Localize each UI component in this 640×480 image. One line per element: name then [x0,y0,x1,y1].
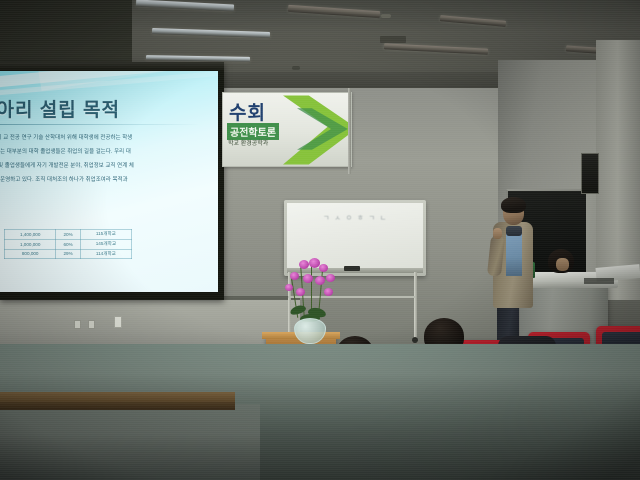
table-cell: 1,000,000 [5,239,56,249]
presenter-hair [501,197,526,213]
orchid-bloom [315,276,325,285]
orchid-bloom [326,274,335,282]
orchid-bloom [296,288,305,296]
projected-slide: ㅣ아리 설립 목적 …함께 교 전공 연구 기술 산학대처 위해 대학생에 전공… [0,71,218,292]
wall-lower-band [0,300,300,348]
slide-body-line-2: … 교는 대부분의 대학 졸업생들은 취업의 길을 걸는다. 우리 대 [0,147,131,155]
slide-body-line-4: …로 운영하고 있다. 조직 대처조의 하나가 취업조여라 목적과 [0,175,128,183]
table-cell: 114개학교 [80,249,131,259]
whiteboard-writing: ㄱ ㅅ ㅇ ㅎ ㄱ ㄴ [323,213,388,223]
wall-switch-plate [114,316,122,328]
floor-foreground [0,404,260,480]
table-cell: 145개학교 [80,239,131,249]
orchid-bloom [303,274,313,283]
ceiling-vent [380,36,406,43]
banner-title: 수회 [229,98,266,125]
seated-person-face [556,258,569,271]
wall-outlet-1 [74,320,81,329]
slide-title-rule [0,124,200,125]
table-cell: 29% [56,249,80,259]
table-cell: 800,000 [5,249,56,259]
table-cell: 20% [56,230,80,240]
orchid-bloom [319,264,328,272]
projection-screen-roller [0,62,224,71]
stage-step-riser [0,402,235,410]
table-row: 800,000 29% 114개학교 [5,249,132,259]
ceiling-smoke-detector [381,14,391,18]
orchid-plant [284,258,338,324]
slide-body-line-3: …행 및 졸업생들에게 자기 개발전문 분야, 취업정보 교직 연계 체 [0,161,134,169]
presenter-hand-with-mic [493,228,502,239]
podium-edge-shadow [584,278,614,284]
orchid-bloom [324,288,333,296]
wall-banner: 수회 공전학토론 학교 환경공학과 [222,92,352,167]
ceiling-shadow-left [0,0,132,62]
orchid-bloom [299,260,309,269]
banner-affiliation: 학교 환경공학과 [228,138,268,147]
ceiling-sprinkler [292,66,300,70]
whiteboard-eraser [344,266,360,271]
wall-speaker-icon [581,153,599,194]
table-row: 1,000,000 60% 145개학교 [5,239,132,249]
slide-title: ㅣ아리 설립 목적 [0,95,178,122]
photo-scene: ㅣ아리 설립 목적 …함께 교 전공 연구 기술 산학대처 위해 대학생에 전공… [0,0,640,480]
whiteboard-leg-right [414,272,417,338]
orchid-bloom [285,284,293,291]
banner-pole [348,88,351,174]
orchid-bloom [290,272,299,280]
presenter-scarf [506,226,522,236]
whiteboard-wheel-right [412,337,418,343]
table-cell: 1,400,000 [5,230,56,240]
slide-body-line-1: …함께 교 전공 연구 기술 산학대처 위해 대학생에 전공하는 학생 [0,133,132,141]
table-cell: 60% [56,239,80,249]
table-cell: 115개학교 [80,230,131,240]
wall-outlet-2 [88,320,95,329]
table-row: 1,400,000 20% 115개학교 [5,230,132,240]
slide-table: 1,400,000 20% 115개학교 1,000,000 60% 145개학… [4,229,132,259]
